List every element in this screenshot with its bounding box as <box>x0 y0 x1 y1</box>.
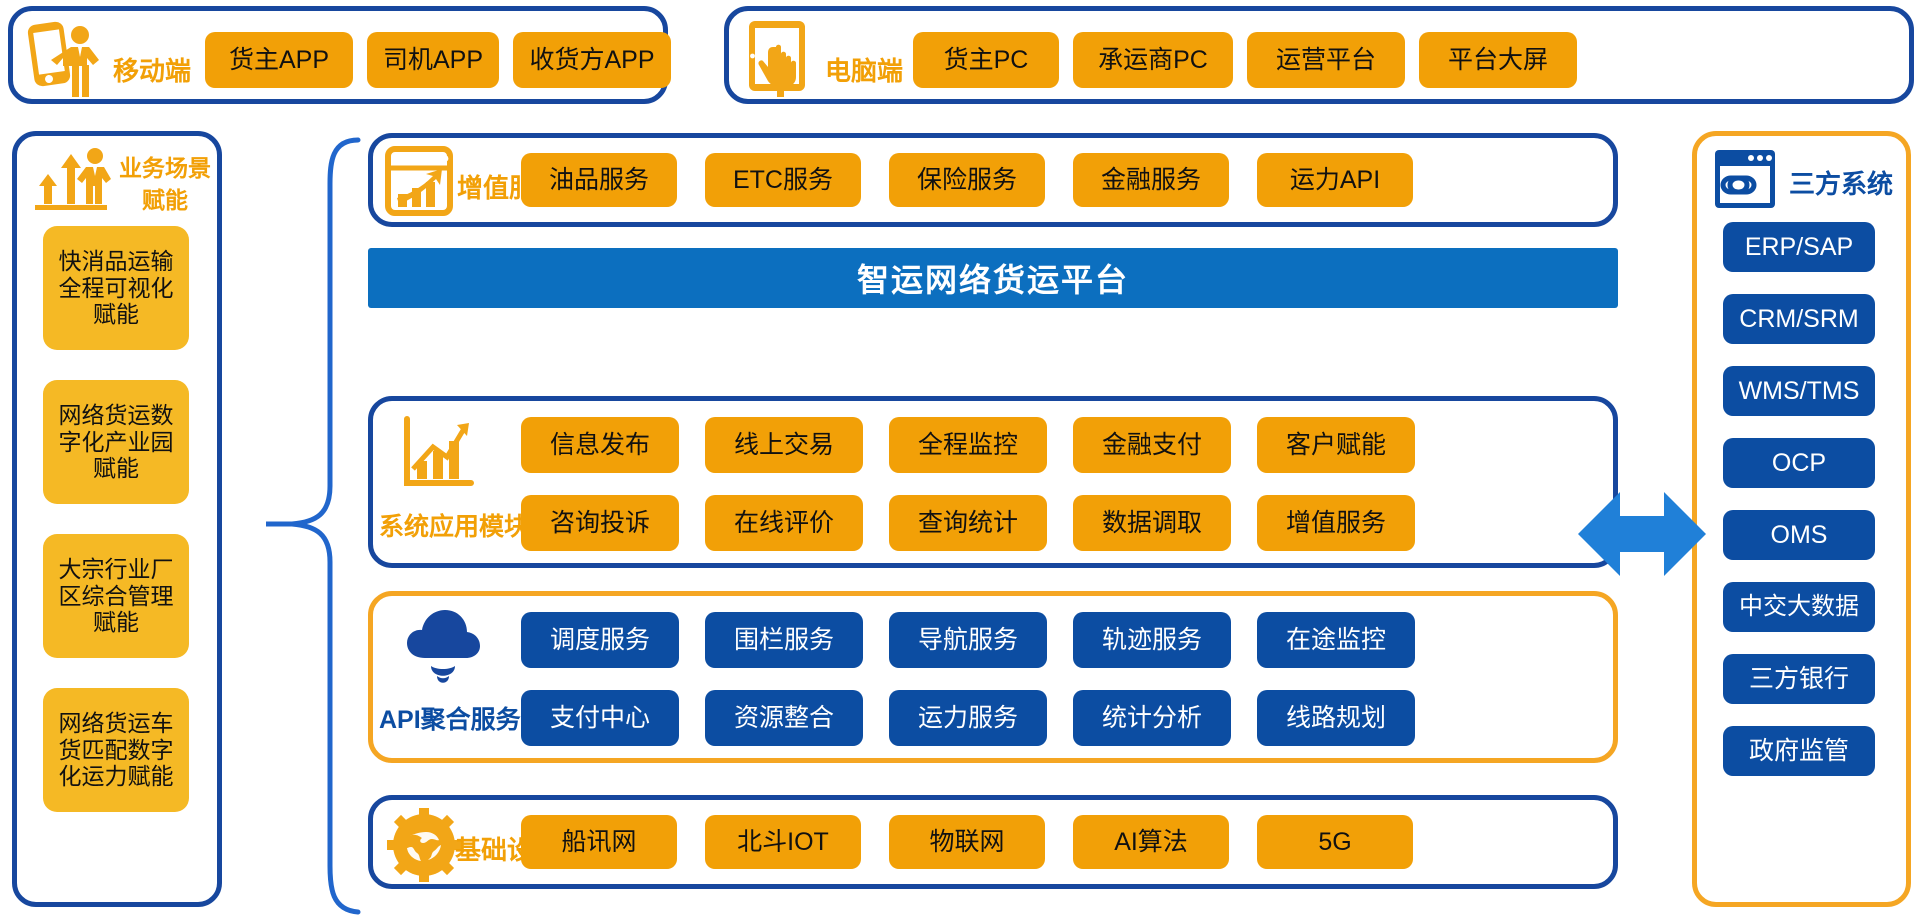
third-party-item-5[interactable]: 中交大数据 <box>1723 582 1875 632</box>
scenario-title-line2: 赋能 <box>142 181 188 215</box>
growth-chart-window-icon <box>385 146 455 216</box>
chip-api-r1-0[interactable]: 调度服务 <box>521 612 679 668</box>
mobile-phone-person-icon <box>25 15 107 99</box>
platform-title: 智运网络货运平台 <box>857 255 1129 301</box>
third-party-item-1[interactable]: CRM/SRM <box>1723 294 1875 344</box>
chip-vas-3[interactable]: 金融服务 <box>1073 153 1229 207</box>
bidirectional-arrow <box>1578 484 1706 584</box>
api-services-row-1: 调度服务 围栏服务 导航服务 轨迹服务 在途监控 <box>521 612 1415 668</box>
pc-section-label: 电脑端 <box>825 51 903 88</box>
api-services-label: API聚合服务 <box>379 700 521 736</box>
chip-api-r1-1[interactable]: 围栏服务 <box>705 612 863 668</box>
chip-infra-2[interactable]: 物联网 <box>889 815 1045 869</box>
third-party-item-7[interactable]: 政府监管 <box>1723 726 1875 776</box>
pc-clients-panel: 电脑端 货主PC 承运商PC 运营平台 平台大屏 <box>724 6 1914 104</box>
chip-sys-r2-2[interactable]: 查询统计 <box>889 495 1047 551</box>
growth-arrows-person-icon <box>29 146 113 212</box>
curly-brace-connector <box>266 136 362 916</box>
chip-api-r1-4[interactable]: 在途监控 <box>1257 612 1415 668</box>
infrastructure-items-row: 船讯网 北斗IOT 物联网 AI算法 5G <box>521 815 1413 869</box>
value-added-items-row: 油品服务 ETC服务 保险服务 金融服务 运力API <box>521 153 1413 207</box>
chip-infra-1[interactable]: 北斗IOT <box>705 815 861 869</box>
chip-sys-r2-0[interactable]: 咨询投诉 <box>521 495 679 551</box>
chip-vas-2[interactable]: 保险服务 <box>889 153 1045 207</box>
pc-items-row: 货主PC 承运商PC 运营平台 平台大屏 <box>913 32 1577 88</box>
third-party-items-list: ERP/SAP CRM/SRM WMS/TMS OCP OMS 中交大数据 三方… <box>1723 222 1875 776</box>
chip-api-r2-2[interactable]: 运力服务 <box>889 690 1047 746</box>
platform-banner: 智运网络货运平台 <box>368 248 1618 308</box>
scenario-item-3[interactable]: 网络货运车货匹配数字化运力赋能 <box>43 688 189 812</box>
chip-mobile-0[interactable]: 货主APP <box>205 32 353 88</box>
value-added-services-panel: 增值服务 油品服务 ETC服务 保险服务 金融服务 运力API <box>368 133 1618 227</box>
chip-infra-0[interactable]: 船讯网 <box>521 815 677 869</box>
chip-api-r2-0[interactable]: 支付中心 <box>521 690 679 746</box>
chip-api-r2-1[interactable]: 资源整合 <box>705 690 863 746</box>
chip-pc-3[interactable]: 平台大屏 <box>1419 32 1577 88</box>
chip-pc-2[interactable]: 运营平台 <box>1247 32 1405 88</box>
chip-sys-r1-1[interactable]: 线上交易 <box>705 417 863 473</box>
system-modules-panel: 系统应用模块 信息发布 线上交易 全程监控 金融支付 客户赋能 咨询投诉 在线评… <box>368 396 1618 568</box>
chip-infra-3[interactable]: AI算法 <box>1073 815 1229 869</box>
mobile-section-label: 移动端 <box>113 51 191 88</box>
chip-sys-r1-2[interactable]: 全程监控 <box>889 417 1047 473</box>
business-scenario-panel: 业务场景 赋能 快消品运输全程可视化赋能 网络货运数字化产业园赋能 大宗行业厂区… <box>12 131 222 907</box>
third-party-item-6[interactable]: 三方银行 <box>1723 654 1875 704</box>
api-services-panel: API聚合服务 调度服务 围栏服务 导航服务 轨迹服务 在途监控 支付中心 资源… <box>368 591 1618 763</box>
chip-infra-4[interactable]: 5G <box>1257 815 1413 869</box>
third-party-title: 三方系统 <box>1789 164 1893 201</box>
chip-mobile-1[interactable]: 司机APP <box>367 32 499 88</box>
third-party-systems-panel: 三方系统 ERP/SAP CRM/SRM WMS/TMS OCP OMS 中交大… <box>1692 131 1911 907</box>
chip-vas-0[interactable]: 油品服务 <box>521 153 677 207</box>
chip-sys-r2-3[interactable]: 数据调取 <box>1073 495 1231 551</box>
chip-vas-1[interactable]: ETC服务 <box>705 153 861 207</box>
chip-sys-r1-4[interactable]: 客户赋能 <box>1257 417 1415 473</box>
chip-mobile-2[interactable]: 收货方APP <box>513 32 671 88</box>
cloud-signal-icon <box>403 606 483 688</box>
scenario-item-1[interactable]: 网络货运数字化产业园赋能 <box>43 380 189 504</box>
tablet-hand-icon <box>743 17 823 99</box>
browser-link-icon <box>1713 148 1777 210</box>
scenario-item-2[interactable]: 大宗行业厂区综合管理赋能 <box>43 534 189 658</box>
mobile-clients-panel: 移动端 货主APP 司机APP 收货方APP <box>8 6 668 104</box>
api-services-row-2: 支付中心 资源整合 运力服务 统计分析 线路规划 <box>521 690 1415 746</box>
system-modules-label: 系统应用模块 <box>379 507 529 543</box>
third-party-item-3[interactable]: OCP <box>1723 438 1875 488</box>
chip-sys-r1-3[interactable]: 金融支付 <box>1073 417 1231 473</box>
third-party-item-2[interactable]: WMS/TMS <box>1723 366 1875 416</box>
third-party-item-4[interactable]: OMS <box>1723 510 1875 560</box>
third-party-item-0[interactable]: ERP/SAP <box>1723 222 1875 272</box>
chip-sys-r2-1[interactable]: 在线评价 <box>705 495 863 551</box>
gear-globe-icon <box>387 808 461 882</box>
bar-chart-arrow-icon <box>399 413 477 491</box>
chip-sys-r1-0[interactable]: 信息发布 <box>521 417 679 473</box>
scenario-item-0[interactable]: 快消品运输全程可视化赋能 <box>43 226 189 350</box>
mobile-items-row: 货主APP 司机APP 收货方APP <box>205 32 671 88</box>
scenario-title-line1: 业务场景 <box>119 149 211 183</box>
chip-api-r1-3[interactable]: 轨迹服务 <box>1073 612 1231 668</box>
chip-pc-1[interactable]: 承运商PC <box>1073 32 1233 88</box>
chip-api-r2-3[interactable]: 统计分析 <box>1073 690 1231 746</box>
system-modules-row-1: 信息发布 线上交易 全程监控 金融支付 客户赋能 <box>521 417 1415 473</box>
chip-api-r2-4[interactable]: 线路规划 <box>1257 690 1415 746</box>
scenario-items-list: 快消品运输全程可视化赋能 网络货运数字化产业园赋能 大宗行业厂区综合管理赋能 网… <box>43 226 189 812</box>
infrastructure-panel: 基础设施 船讯网 北斗IOT 物联网 AI算法 5G <box>368 795 1618 889</box>
chip-pc-0[interactable]: 货主PC <box>913 32 1059 88</box>
chip-vas-4[interactable]: 运力API <box>1257 153 1413 207</box>
chip-sys-r2-4[interactable]: 增值服务 <box>1257 495 1415 551</box>
chip-api-r1-2[interactable]: 导航服务 <box>889 612 1047 668</box>
system-modules-row-2: 咨询投诉 在线评价 查询统计 数据调取 增值服务 <box>521 495 1415 551</box>
